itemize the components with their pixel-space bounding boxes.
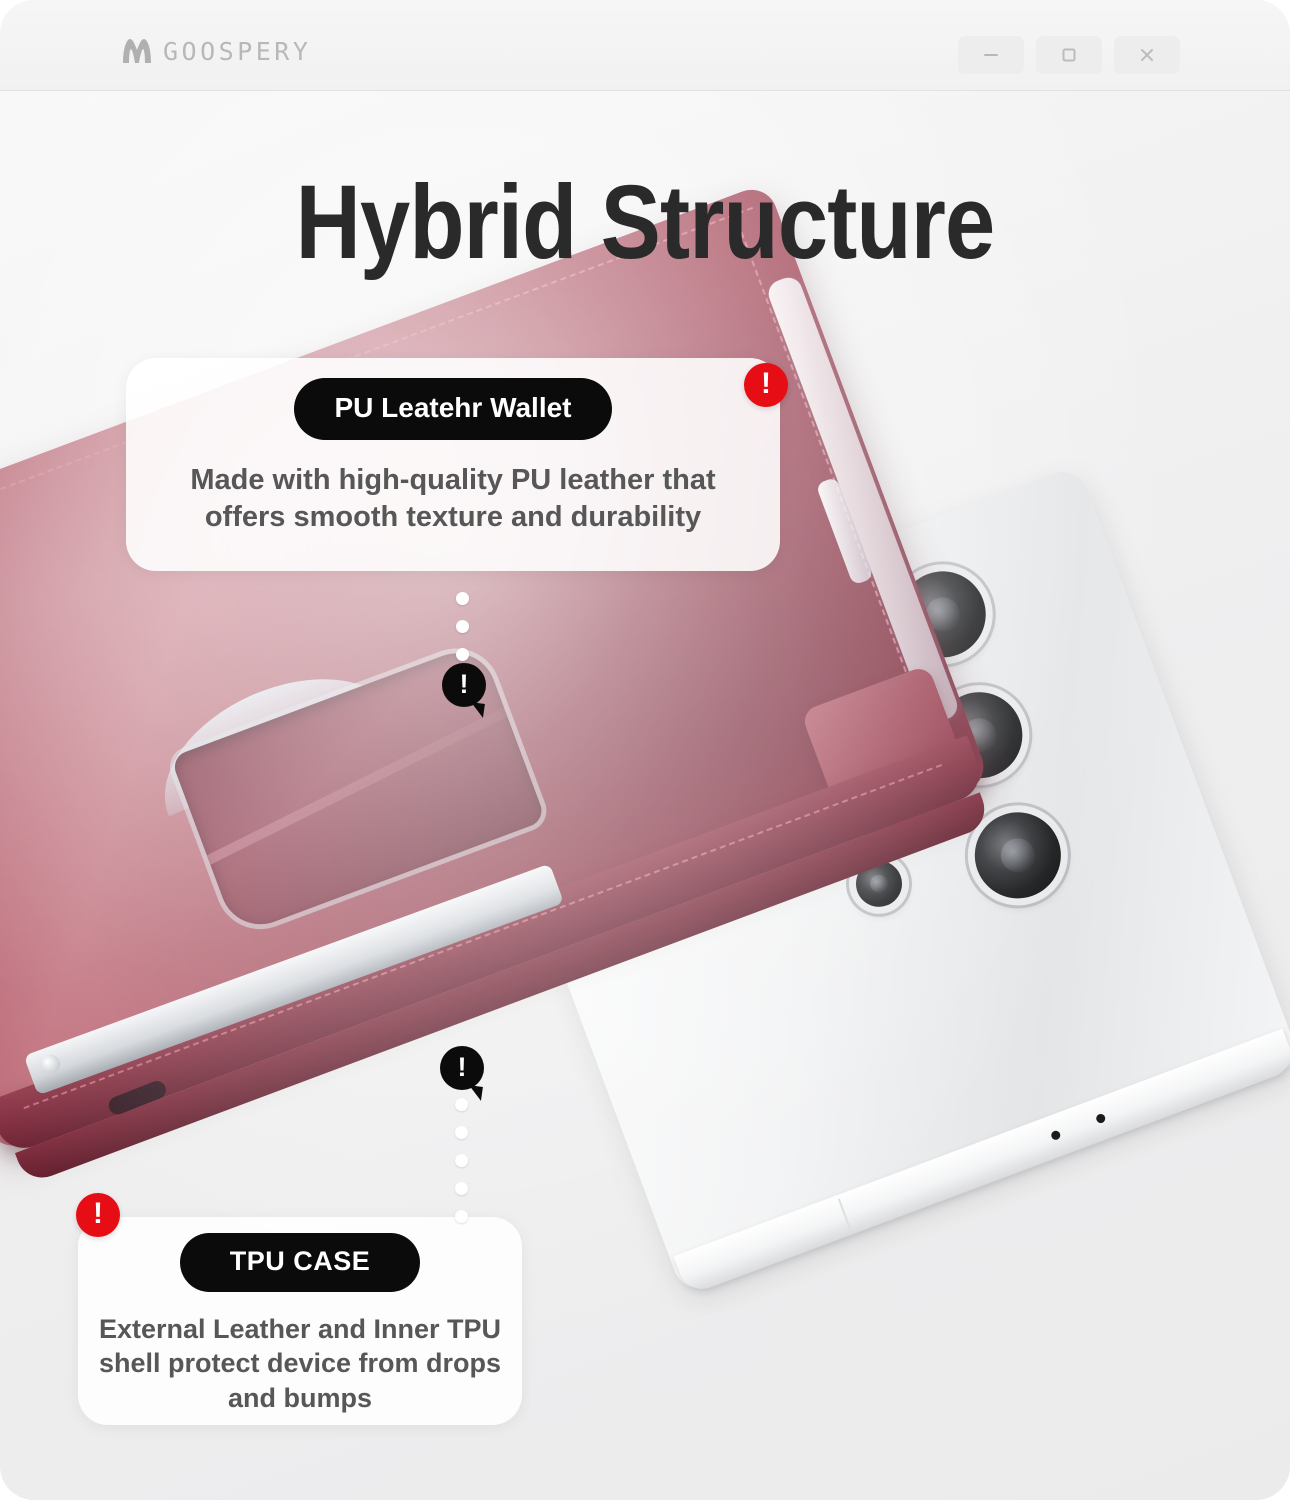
close-button[interactable]: [1114, 36, 1180, 74]
leader-dot: [456, 592, 469, 605]
leader-line-bottom: [455, 1098, 468, 1223]
window-controls: [958, 36, 1180, 74]
leader-dot: [455, 1182, 468, 1195]
brand-name: GOOSPERY: [163, 39, 311, 64]
maximize-button[interactable]: [1036, 36, 1102, 74]
callout-pu-leather-wallet: PU Leatehr Wallet Made with high-quality…: [126, 358, 780, 571]
callout-pill-tpu: TPU CASE: [180, 1233, 421, 1292]
exclamation-icon: !: [761, 369, 771, 399]
exclamation-icon: !: [440, 1046, 484, 1090]
leader-dot: [455, 1098, 468, 1111]
brand-logo: GOOSPERY: [122, 38, 311, 64]
leader-line-top: [456, 592, 469, 661]
leader-dot: [455, 1154, 468, 1167]
page-title: Hybrid Structure: [90, 170, 1199, 275]
marker-tail: [469, 702, 485, 718]
alert-badge-tpu[interactable]: !: [76, 1193, 120, 1237]
callout-tpu-case: TPU CASE External Leather and Inner TPU …: [78, 1217, 522, 1425]
minimize-icon: [982, 49, 1000, 61]
exclamation-icon: !: [93, 1199, 103, 1229]
hotspot-marker-pu-leather[interactable]: !: [442, 663, 486, 707]
app-window: Hybrid Structure ! ! ! ! PU Leatehr Wall…: [0, 0, 1290, 1500]
callout-body-pu-leather: Made with high-quality PU leather that o…: [153, 462, 753, 536]
close-icon: [1138, 46, 1156, 64]
maximize-icon: [1060, 46, 1078, 64]
leader-dot: [456, 648, 469, 661]
callout-pill-pu-leather: PU Leatehr Wallet: [294, 378, 611, 440]
goospery-logo-icon: [122, 38, 152, 64]
title-bar-divider: [0, 90, 1290, 91]
exclamation-icon: !: [442, 663, 486, 707]
leader-dot: [456, 620, 469, 633]
callout-body-tpu: External Leather and Inner TPU shell pro…: [90, 1312, 510, 1415]
alert-badge-pu-leather[interactable]: !: [744, 363, 788, 407]
minimize-button[interactable]: [958, 36, 1024, 74]
hotspot-marker-tpu[interactable]: !: [440, 1046, 484, 1090]
leader-dot: [455, 1126, 468, 1139]
leader-dot: [455, 1210, 468, 1223]
marker-tail: [467, 1085, 483, 1101]
